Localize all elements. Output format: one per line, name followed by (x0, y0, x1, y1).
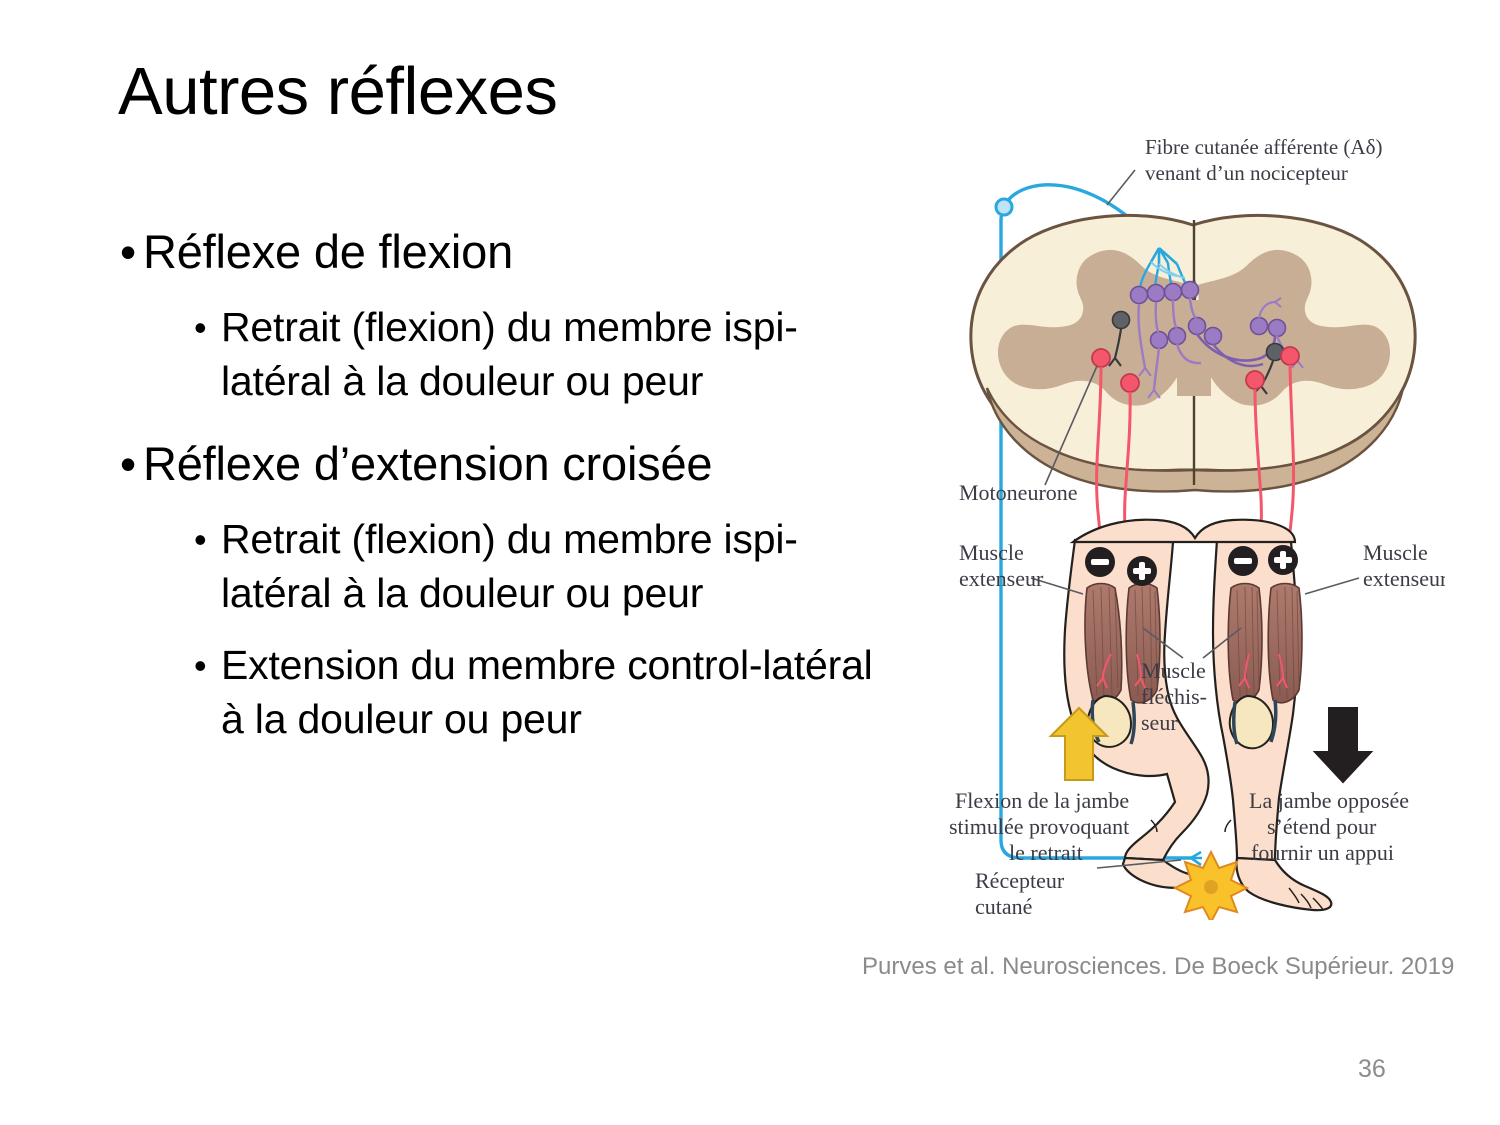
flexor-label-line1: Muscle (1141, 658, 1206, 683)
flexion-label-line2: stimulée provoquant (949, 814, 1129, 839)
receptor-label-line2: cutané (975, 894, 1032, 919)
receptor-label-line1: Récepteur (975, 868, 1065, 893)
extensor-left-label-line2: extenseur (959, 566, 1044, 591)
list-item-extension-controlateral: • Extension du membre control-latéral à … (110, 638, 910, 746)
bullet-marker-icon: • (110, 222, 143, 282)
flexion-label-line1: Flexion de la jambe (955, 788, 1129, 813)
afferent-label-line1: Fibre cutanée afférente (Aδ) (1145, 135, 1382, 159)
list-item-label: Réflexe d’extension croisée (143, 434, 712, 494)
list-item-label: Retrait (flexion) du membre ispi-latéral… (221, 512, 881, 620)
flexion-label-line3: le retrait (1009, 840, 1083, 865)
opposite-label-line3: fournir un appui (1251, 840, 1394, 865)
extensor-right-label-line2: extenseur (1363, 566, 1445, 591)
bullet-marker-icon: • (188, 638, 221, 694)
list-item-retrait-flexion-2: • Retrait (flexion) du membre ispi-latér… (110, 512, 910, 620)
list-item-label: Retrait (flexion) du membre ispi-latéral… (221, 300, 881, 408)
list-item-reflexe-extension-croisee: • Réflexe d’extension croisée (110, 434, 910, 494)
opposite-label-line2: s’étend pour (1267, 814, 1377, 839)
arrow-down-extension-icon (1315, 708, 1371, 782)
list-item-label: Réflexe de flexion (143, 222, 513, 282)
slide-page-number: 36 (1358, 1055, 1386, 1084)
flexor-label-line3: seur (1141, 710, 1178, 735)
flexor-label-line2: fléchis- (1141, 684, 1207, 709)
spinal-cord-cross-section (971, 215, 1415, 491)
page-title: Autres réflexes (118, 58, 557, 125)
list-item-reflexe-de-flexion: • Réflexe de flexion (110, 222, 910, 282)
list-item-retrait-flexion-1: • Retrait (flexion) du membre ispi-latér… (110, 300, 910, 408)
afferent-label-line2: venant d’un nocicepteur (1145, 161, 1348, 185)
extensor-right-label-line1: Muscle (1363, 540, 1428, 565)
list-item-label: Extension du membre control-latéral à la… (221, 638, 881, 746)
crossed-extensor-reflex-diagram: Fibre cutanée afférente (Aδ) venant d’un… (945, 130, 1445, 920)
bullet-list: • Réflexe de flexion • Retrait (flexion)… (110, 222, 910, 750)
afferent-label-leader-icon (1107, 170, 1135, 205)
bullet-marker-icon: • (188, 300, 221, 356)
pain-stimulus-star-icon (1175, 852, 1247, 920)
cutaneous-receptor-icon (1191, 852, 1202, 865)
citation-text: Purves et al. Neurosciences. De Boeck Su… (862, 953, 1454, 981)
extensor-left-label-line1: Muscle (959, 540, 1024, 565)
motoneurone-label: Motoneurone (959, 480, 1078, 505)
opposite-label-line1: La jambe opposée (1249, 788, 1409, 813)
bullet-marker-icon: • (188, 512, 221, 568)
bullet-marker-icon: • (110, 434, 143, 494)
